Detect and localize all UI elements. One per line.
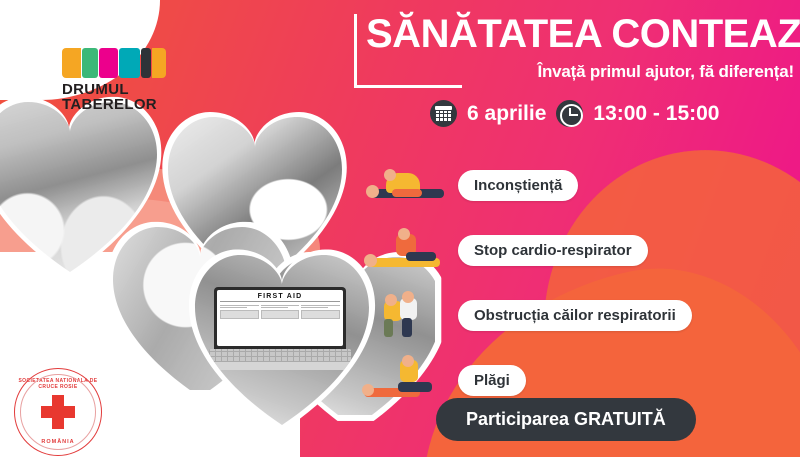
headline-bracket-accent [354, 14, 357, 88]
heimlich-maneuver-illustration [362, 293, 458, 339]
logo-mark-icon [62, 48, 166, 78]
event-date: 6 aprilie [467, 102, 546, 126]
unconscious-person-illustration [362, 163, 458, 209]
red-cross-seal: SOCIETATEA NATIONALA DE CRUCE ROSIE ROMÂ… [14, 368, 102, 456]
brand-name-line-1: DRUMUL [62, 82, 182, 97]
event-time: 13:00 - 15:00 [593, 102, 719, 126]
topic-label: Stop cardio-respirator [458, 235, 648, 266]
seal-bottom-text: ROMÂNIA [15, 439, 101, 445]
event-meta: 6 aprilie 13:00 - 15:00 [430, 100, 719, 127]
calendar-icon [430, 100, 457, 127]
headline-underline-accent [354, 85, 462, 88]
seal-top-text: SOCIETATEA NATIONALA DE CRUCE ROSIE [15, 378, 101, 390]
laptop-illustration: FIRST AID [214, 287, 346, 371]
red-cross-icon [41, 395, 75, 429]
topic-label: Plăgi [458, 365, 526, 396]
laptop-screen-title: FIRST AID [220, 293, 340, 302]
list-item: Obstrucția căilor respiratorii [362, 288, 800, 343]
list-item: Inconștiență [362, 158, 800, 213]
cpr-illustration [362, 228, 458, 274]
clock-icon [556, 100, 583, 127]
participate-button[interactable]: Participarea GRATUITĂ [436, 398, 696, 441]
brand-logo: DRUMUL TABERELOR [62, 48, 182, 112]
topics-list: Inconștiență Stop cardio-respirator [362, 158, 800, 418]
brand-name-line-2: TABERELOR [62, 97, 182, 112]
promotional-banner: DRUMUL TABERELOR [0, 0, 800, 457]
content-column: SĂNĂTATEA CONTEAZĂ! Învață primul ajutor… [352, 0, 800, 457]
page-subtitle: Învață primul ajutor, fă diferența! [537, 62, 794, 82]
wound-care-illustration [362, 358, 458, 404]
list-item: Stop cardio-respirator [362, 223, 800, 278]
topic-label: Obstrucția căilor respiratorii [458, 300, 692, 331]
page-title: SĂNĂTATEA CONTEAZĂ! [366, 12, 796, 56]
topic-label: Inconștiență [458, 170, 578, 201]
